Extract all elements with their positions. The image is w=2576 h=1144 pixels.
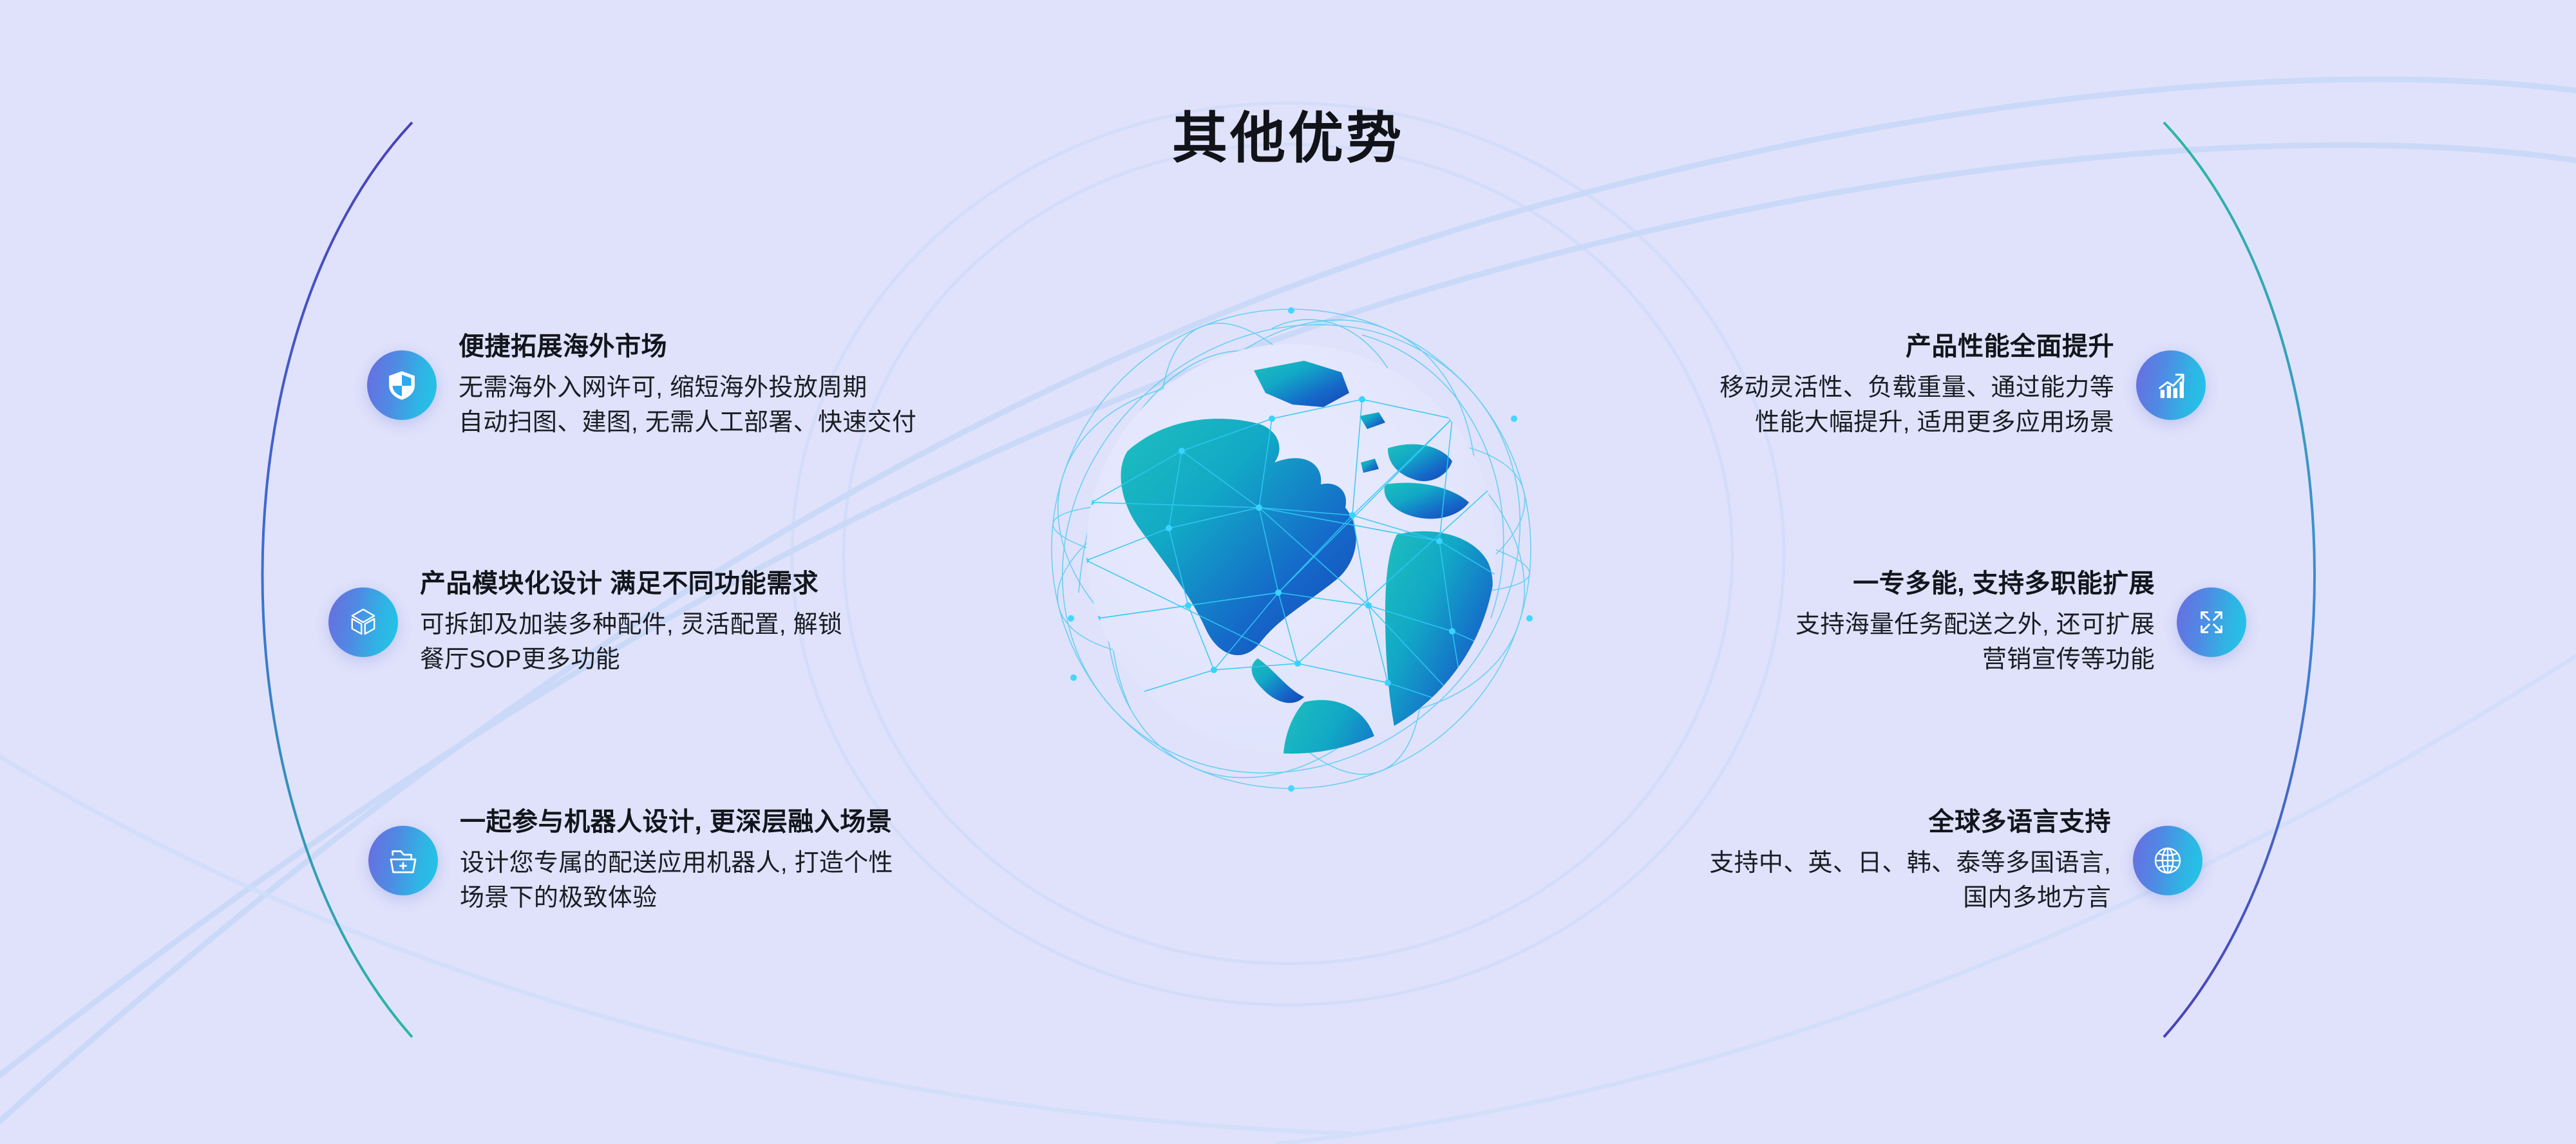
network-globe-illustration bbox=[1001, 258, 1581, 837]
feature-line: 自动扫图、建图, 无需人工部署、快速交付 bbox=[459, 406, 916, 441]
feature-line: 移动灵活性、负载重量、通过能力等 bbox=[1719, 371, 2114, 406]
feature-heading: 全球多语言支持 bbox=[1709, 805, 2111, 840]
growth-chart-icon bbox=[2152, 367, 2190, 404]
feature-badge[interactable] bbox=[368, 826, 438, 895]
feature-badge[interactable] bbox=[367, 350, 437, 420]
feature-badge[interactable] bbox=[2136, 350, 2206, 420]
feature-left-1[interactable]: 便捷拓展海外市场 无需海外入网许可, 缩短海外投放周期 自动扫图、建图, 无需人… bbox=[367, 330, 938, 441]
feature-text: 便捷拓展海外市场 无需海外入网许可, 缩短海外投放周期 自动扫图、建图, 无需人… bbox=[437, 330, 938, 441]
feature-text: 产品性能全面提升 移动灵活性、负载重量、通过能力等 性能大幅提升, 适用更多应用… bbox=[1698, 330, 2136, 441]
feature-line: 可拆卸及加装多种配件, 灵活配置, 解锁 bbox=[420, 608, 842, 643]
feature-line: 支持海量任务配送之外, 还可扩展 bbox=[1795, 608, 2155, 643]
feature-text: 一专多能, 支持多职能扩展 支持海量任务配送之外, 还可扩展 营销宣传等功能 bbox=[1774, 567, 2177, 678]
shield-icon bbox=[383, 367, 421, 404]
feature-line: 场景下的极致体验 bbox=[460, 881, 893, 916]
feature-text: 产品模块化设计 满足不同功能需求 可拆卸及加装多种配件, 灵活配置, 解锁 餐厅… bbox=[398, 567, 864, 678]
feature-badge[interactable] bbox=[2133, 826, 2202, 895]
feature-left-3[interactable]: 一起参与机器人设计, 更深层融入场景 设计您专属的配送应用机器人, 打造个性 场… bbox=[368, 805, 915, 916]
feature-heading: 产品性能全面提升 bbox=[1719, 330, 2114, 365]
expand-arrows-icon bbox=[2193, 604, 2230, 641]
feature-line: 设计您专属的配送应用机器人, 打造个性 bbox=[460, 846, 893, 881]
feature-left-2[interactable]: 产品模块化设计 满足不同功能需求 可拆卸及加装多种配件, 灵活配置, 解锁 餐厅… bbox=[328, 567, 864, 678]
feature-right-2[interactable]: 一专多能, 支持多职能扩展 支持海量任务配送之外, 还可扩展 营销宣传等功能 bbox=[1774, 567, 2246, 678]
cube-icon bbox=[345, 604, 382, 641]
advantages-section: 其他优势 bbox=[0, 0, 2576, 1144]
page-title: 其他优势 bbox=[0, 111, 2576, 166]
feature-line: 支持中、英、日、韩、泰等多国语言, bbox=[1709, 846, 2111, 881]
feature-heading: 一专多能, 支持多职能扩展 bbox=[1795, 567, 2155, 602]
feature-right-1[interactable]: 产品性能全面提升 移动灵活性、负载重量、通过能力等 性能大幅提升, 适用更多应用… bbox=[1698, 330, 2206, 441]
folder-plus-icon bbox=[384, 842, 422, 879]
feature-text: 一起参与机器人设计, 更深层融入场景 设计您专属的配送应用机器人, 打造个性 场… bbox=[438, 805, 915, 916]
feature-line: 餐厅SOP更多功能 bbox=[420, 643, 842, 678]
feature-text: 全球多语言支持 支持中、英、日、韩、泰等多国语言, 国内多地方言 bbox=[1687, 805, 2133, 916]
feature-line: 营销宣传等功能 bbox=[1795, 643, 2155, 678]
feature-heading: 一起参与机器人设计, 更深层融入场景 bbox=[460, 805, 893, 840]
feature-badge[interactable] bbox=[2177, 587, 2246, 657]
feature-badge[interactable] bbox=[328, 587, 398, 657]
feature-line: 性能大幅提升, 适用更多应用场景 bbox=[1719, 406, 2114, 441]
feature-heading: 产品模块化设计 满足不同功能需求 bbox=[420, 567, 842, 602]
feature-line: 无需海外入网许可, 缩短海外投放周期 bbox=[459, 371, 916, 406]
globe-icon bbox=[2149, 842, 2186, 879]
feature-heading: 便捷拓展海外市场 bbox=[459, 330, 916, 365]
feature-line: 国内多地方言 bbox=[1709, 881, 2111, 916]
feature-right-3[interactable]: 全球多语言支持 支持中、英、日、韩、泰等多国语言, 国内多地方言 bbox=[1687, 805, 2202, 916]
